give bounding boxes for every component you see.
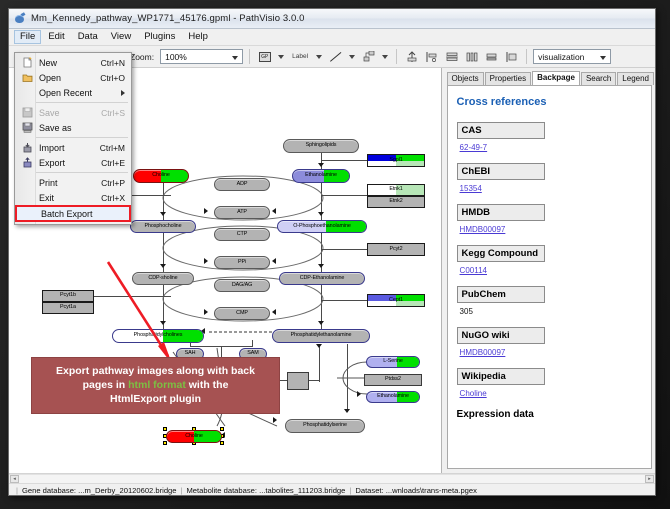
menu-item-export[interactable]: Export Ctrl+E [15, 155, 131, 170]
status-metabolite-database: Metabolite database: ...tabolites_111203… [186, 486, 345, 495]
gene-pcyt1b[interactable]: Pcyt1b [42, 290, 94, 302]
callout-annotation: Export pathway images along with back pa… [31, 357, 280, 414]
menu-plugins[interactable]: Plugins [138, 30, 181, 44]
db-name-nugo: NuGO wiki [457, 327, 545, 344]
node-choline-bottom[interactable]: Choline [166, 430, 222, 443]
tab-search[interactable]: Search [581, 72, 616, 85]
tab-properties[interactable]: Properties [485, 72, 531, 85]
align-left-icon [426, 51, 438, 63]
arrow-into-ppi-left [204, 258, 208, 264]
status-dataset: Dataset: ...wnloads\trans-meta.pgex [355, 486, 477, 495]
gene-ptdss2[interactable]: Ptdss2 [364, 374, 422, 386]
line-icon [330, 52, 342, 62]
edge-sgpl1 [321, 160, 369, 161]
distribute-icon [466, 51, 478, 63]
arrow-into-cmp-left [204, 309, 208, 315]
save-icon [19, 107, 36, 118]
edge-etnk [321, 195, 369, 196]
chevron-down-icon [232, 56, 238, 60]
menu-item-open-recent[interactable]: Open Recent [15, 85, 131, 100]
node-dag[interactable]: DAG/AG [214, 279, 270, 292]
status-gene-database: Gene database: ...m_Derby_20120602.bridg… [22, 486, 177, 495]
menu-item-open-recent-label: Open Recent [36, 88, 121, 98]
stack-icon [446, 51, 458, 63]
menu-item-export-label: Export [36, 158, 101, 168]
db-value-nugo: HMDB00097 [457, 348, 642, 357]
db-block-cas: CAS 62-49-7 [457, 122, 642, 152]
same-width-button[interactable] [483, 48, 500, 65]
statusbar: ◂ ▸ | Gene database: ...m_Derby_20120602… [9, 473, 655, 496]
menu-separator-2 [36, 137, 128, 138]
menu-help[interactable]: Help [182, 30, 214, 44]
edge-cept1 [321, 300, 369, 301]
db-name-pubchem: PubChem [457, 286, 545, 303]
distribute-button[interactable] [463, 48, 480, 65]
db-value-pubchem: 305 [457, 307, 642, 316]
same-width-icon [486, 51, 498, 63]
scroll-right-icon[interactable]: ▸ [645, 475, 654, 483]
db-value-wikipedia: Choline [457, 389, 642, 398]
edge-ptdcho-ptdetn [199, 326, 279, 340]
edge-ptdetn-down [319, 344, 320, 382]
scroll-left-icon[interactable]: ◂ [10, 475, 19, 483]
node-cdp-ethanolamine[interactable]: CDP-Ethanolamine [279, 272, 365, 285]
arrow-to-ptdserine-2 [273, 417, 277, 423]
menu-item-print-label: Print [36, 178, 101, 188]
menu-item-save-as[interactable]: Save as [15, 120, 131, 135]
datanode-tool-button[interactable]: GP [256, 48, 273, 65]
tab-backpage[interactable]: Backpage [532, 71, 580, 85]
gene-pcyt1a[interactable]: Pcyt1a [42, 302, 94, 314]
label-icon: Label [292, 53, 308, 60]
db-name-kegg: Kegg Compound [457, 245, 545, 262]
menu-item-exit-label: Exit [36, 193, 101, 203]
db-link-nugo[interactable]: HMDB00097 [460, 348, 506, 357]
db-link-chebi[interactable]: 15354 [460, 184, 482, 193]
arrow-into-atp-right [272, 208, 276, 214]
datanode-dropdown-icon[interactable] [278, 55, 284, 59]
open-folder-icon [19, 72, 36, 83]
menu-item-exit[interactable]: Exit Ctrl+X [15, 190, 131, 205]
visualization-value: visualization [538, 52, 584, 62]
db-block-nugo: NuGO wiki HMDB00097 [457, 327, 642, 357]
callout-line-3: HtmlExport plugin [40, 392, 271, 406]
submenu-caret-icon [121, 90, 125, 96]
arrow-into-cmp-right [272, 309, 276, 315]
db-value-hmdb: HMDB00097 [457, 225, 642, 234]
save-as-icon [19, 122, 36, 133]
node-adp[interactable]: ADP [214, 178, 270, 191]
db-value-kegg: C00114 [457, 266, 642, 275]
label-tool-button[interactable]: Label [289, 48, 311, 65]
db-link-hmdb[interactable]: HMDB00097 [460, 225, 506, 234]
callout-line-2: pages in html format with the [40, 378, 271, 392]
interaction-tool-button[interactable] [360, 48, 377, 65]
menu-separator-1 [36, 102, 128, 103]
menu-edit[interactable]: Edit [42, 30, 70, 44]
gene-pcyt2[interactable]: Pcyt2 [367, 243, 425, 256]
align-top-icon [406, 51, 418, 63]
node-choline-top[interactable]: Choline [133, 169, 189, 183]
menu-item-open-accel: Ctrl+O [100, 73, 131, 83]
arrow-into-ppi-right [272, 258, 276, 264]
node-atp[interactable]: ATP [214, 206, 270, 219]
status-line: | Gene database: ...m_Derby_20120602.bri… [9, 483, 655, 496]
menu-item-batch-export-label: Batch Export [38, 209, 129, 219]
screenshot-root: Mm_Kennedy_pathway_WP1771_45176.gpml - P… [0, 0, 670, 509]
db-link-kegg[interactable]: C00114 [460, 266, 487, 275]
menu-item-import-accel: Ctrl+M [100, 143, 131, 153]
node-ethanolamine-1[interactable]: Ethanolamine [292, 169, 350, 183]
edge-pcyt2 [321, 249, 369, 250]
menu-separator-3 [36, 172, 128, 173]
gene-etnk1[interactable]: Etnk1 [367, 184, 425, 196]
node-phosphatidylethanolamine[interactable]: Phosphatidylethanolamine [272, 329, 370, 343]
node-l-serine[interactable]: L-Serine [366, 356, 420, 368]
db-block-kegg: Kegg Compound C00114 [457, 245, 642, 275]
menu-data[interactable]: Data [72, 30, 104, 44]
new-document-icon [19, 57, 36, 68]
db-name-wikipedia: Wikipedia [457, 368, 545, 385]
interaction-icon [363, 51, 375, 62]
toolbar-separator-3 [526, 49, 527, 64]
align-top-button[interactable] [403, 48, 420, 65]
line-dropdown-icon[interactable] [349, 55, 355, 59]
menu-item-new[interactable]: New Ctrl+N [15, 55, 131, 70]
callout-line-2-b: with the [186, 379, 229, 391]
same-height-button[interactable] [503, 48, 520, 65]
menu-item-new-accel: Ctrl+N [101, 58, 131, 68]
status-sep-0: | [16, 486, 18, 495]
cross-references-title: Cross references [457, 96, 642, 108]
node-cmp[interactable]: CMP [214, 307, 270, 320]
expression-data-title: Expression data [457, 409, 642, 420]
visualization-combobox[interactable]: visualization [533, 49, 611, 64]
import-icon [19, 142, 36, 153]
callout-line-2-a: pages in [83, 379, 129, 391]
annotation-arrow-icon [104, 258, 189, 373]
db-block-wikipedia: Wikipedia Choline [457, 368, 642, 398]
label-dropdown-icon[interactable] [316, 55, 322, 59]
arrow-ptdetn-up [316, 344, 322, 348]
node-o-phosphoethanolamine[interactable]: O-Phosphoethanolamine [277, 220, 367, 233]
node-sphingolipids[interactable]: Sphingolipids [283, 139, 359, 153]
db-name-cas: CAS [457, 122, 545, 139]
db-name-hmdb: HMDB [457, 204, 545, 221]
arrow-to-ptdserine [344, 409, 350, 413]
interaction-dropdown-icon[interactable] [382, 55, 388, 59]
db-block-pubchem: PubChem 305 [457, 286, 642, 316]
toolbar-separator [249, 49, 250, 64]
callout-highlight: html format [128, 379, 186, 391]
menu-item-save-label: Save [36, 108, 101, 118]
gene-etnk2[interactable]: Etnk2 [367, 196, 425, 208]
node-ctp[interactable]: CTP [214, 228, 270, 241]
scroll-track[interactable] [19, 475, 645, 483]
db-name-chebi: ChEBI [457, 163, 545, 180]
db-link-cas[interactable]: 62-49-7 [460, 143, 488, 152]
gene-sgpl1[interactable]: Sgpl1 [367, 154, 425, 167]
menu-item-batch-export[interactable]: Batch Export [15, 205, 131, 222]
db-value-chebi: 15354 [457, 184, 642, 193]
menu-item-import[interactable]: Import Ctrl+M [15, 140, 131, 155]
menu-item-save-accel: Ctrl+S [101, 108, 131, 118]
geneproduct-icon: GP [259, 52, 271, 62]
node-ethanolamine-2[interactable]: Ethanolamine [366, 391, 420, 403]
arrow-sphingo-etn [318, 163, 324, 167]
menu-item-open[interactable]: Open Ctrl+O [15, 70, 131, 85]
db-block-hmdb: HMDB HMDB00097 [457, 204, 642, 234]
db-link-wikipedia[interactable]: Choline [460, 389, 487, 398]
side-panel: Objects Properties Backpage Search Legen… [442, 68, 655, 473]
menu-item-save[interactable]: Save Ctrl+S [15, 105, 131, 120]
tab-objects[interactable]: Objects [447, 72, 484, 85]
node-ppi[interactable]: PPi [214, 256, 270, 269]
tab-legend[interactable]: Legend [617, 72, 654, 85]
line-tool-button[interactable] [327, 48, 344, 65]
pathvisio-window: Mm_Kennedy_pathway_WP1771_45176.gpml - P… [8, 8, 656, 496]
arrow-into-atp-left [204, 208, 208, 214]
same-height-icon [506, 51, 518, 63]
node-phosphatidylserine[interactable]: Phosphatidylserine [285, 419, 365, 433]
menubar[interactable]: File Edit Data View Plugins Help [9, 29, 655, 46]
gene-cept1[interactable]: Cept1 [367, 294, 425, 307]
menu-item-print-accel: Ctrl+P [101, 178, 131, 188]
gene-pemt[interactable] [287, 372, 309, 390]
zoom-value: 100% [165, 52, 187, 62]
menu-item-new-label: New [36, 58, 101, 68]
db-value-cas: 62-49-7 [457, 143, 642, 152]
menu-item-save-as-label: Save as [36, 123, 125, 133]
arrow-to-ethanolamine2 [357, 391, 361, 397]
export-icon [19, 157, 36, 168]
backpage-content[interactable]: Cross references CAS 62-49-7 ChEBI 15354… [447, 85, 652, 469]
horizontal-scrollbar[interactable]: ◂ ▸ [9, 474, 655, 483]
stack-button[interactable] [443, 48, 460, 65]
zoom-label: Zoom: [130, 52, 154, 62]
zoom-combobox[interactable]: 100% [160, 49, 243, 64]
side-panel-tabs[interactable]: Objects Properties Backpage Search Legen… [442, 68, 655, 85]
status-sep-1: | [181, 486, 183, 495]
pathvisio-icon [13, 12, 26, 25]
chevron-down-icon-2 [600, 56, 606, 60]
menu-item-export-accel: Ctrl+E [101, 158, 131, 168]
titlebar: Mm_Kennedy_pathway_WP1771_45176.gpml - P… [9, 9, 655, 29]
menu-view[interactable]: View [105, 30, 137, 44]
db-block-chebi: ChEBI 15354 [457, 163, 642, 193]
file-menu-dropdown[interactable]: New Ctrl+N Open Ctrl+O Open Recent [14, 52, 132, 225]
menu-item-open-label: Open [36, 73, 100, 83]
menu-item-print[interactable]: Print Ctrl+P [15, 175, 131, 190]
menu-item-import-label: Import [36, 143, 100, 153]
menu-file[interactable]: File [14, 30, 41, 44]
window-title: Mm_Kennedy_pathway_WP1771_45176.gpml - P… [31, 13, 305, 24]
status-sep-2: | [349, 486, 351, 495]
toolbar-separator-2 [396, 49, 397, 64]
node-phosphocholine[interactable]: Phosphocholine [130, 220, 196, 233]
align-left-button[interactable] [423, 48, 440, 65]
callout-line-1: Export pathway images along with back [40, 364, 271, 378]
menu-item-exit-accel: Ctrl+X [101, 193, 131, 203]
